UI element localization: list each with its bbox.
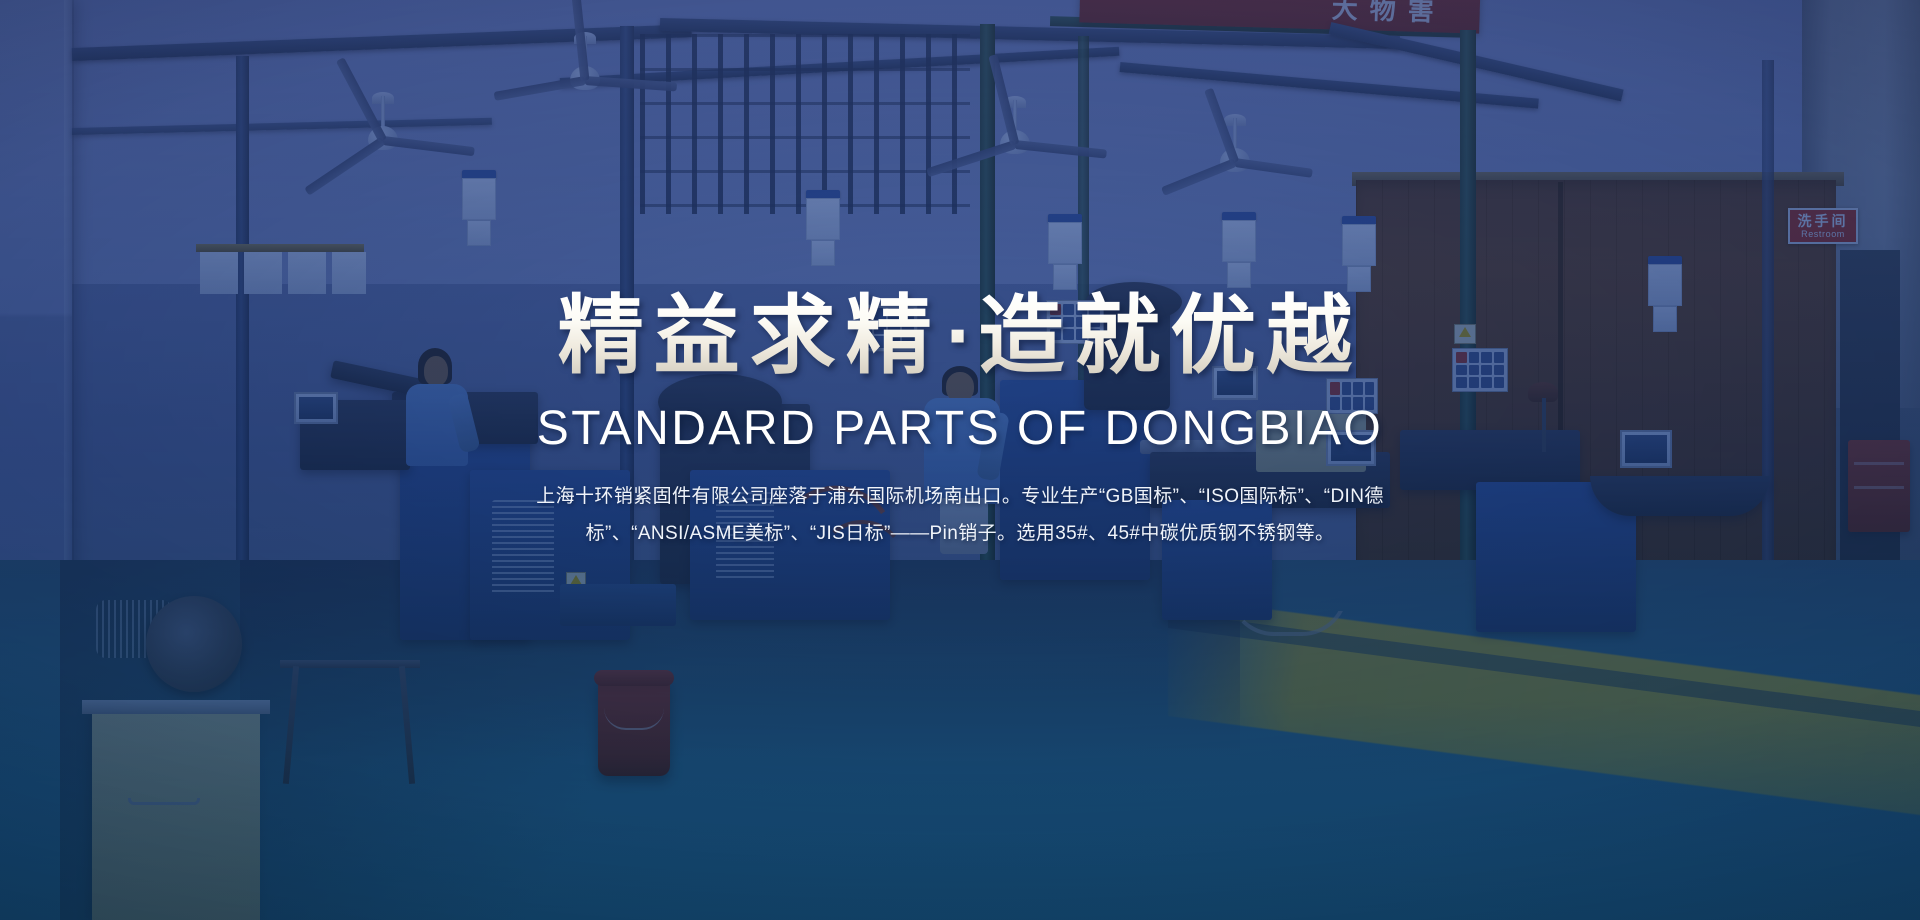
hero-description: 上海十环销紧固件有限公司座落于浦东国际机场南出口。专业生产“GB国标”、“ISO… bbox=[470, 478, 1450, 552]
headline-separator-dot: · bbox=[942, 288, 979, 384]
hero-subheadline: STANDARD PARTS OF DONGBIAO bbox=[537, 401, 1383, 456]
headline-part-1: 精益求精 bbox=[558, 288, 942, 384]
hero-headline: 精益求精·造就优越 bbox=[558, 290, 1363, 383]
headline-part-2: 造就优越 bbox=[978, 288, 1362, 384]
hero-banner: 洗手间 Restroom 大物害 bbox=[0, 0, 1920, 920]
hero-content: 精益求精·造就优越 STANDARD PARTS OF DONGBIAO 上海十… bbox=[0, 0, 1920, 920]
